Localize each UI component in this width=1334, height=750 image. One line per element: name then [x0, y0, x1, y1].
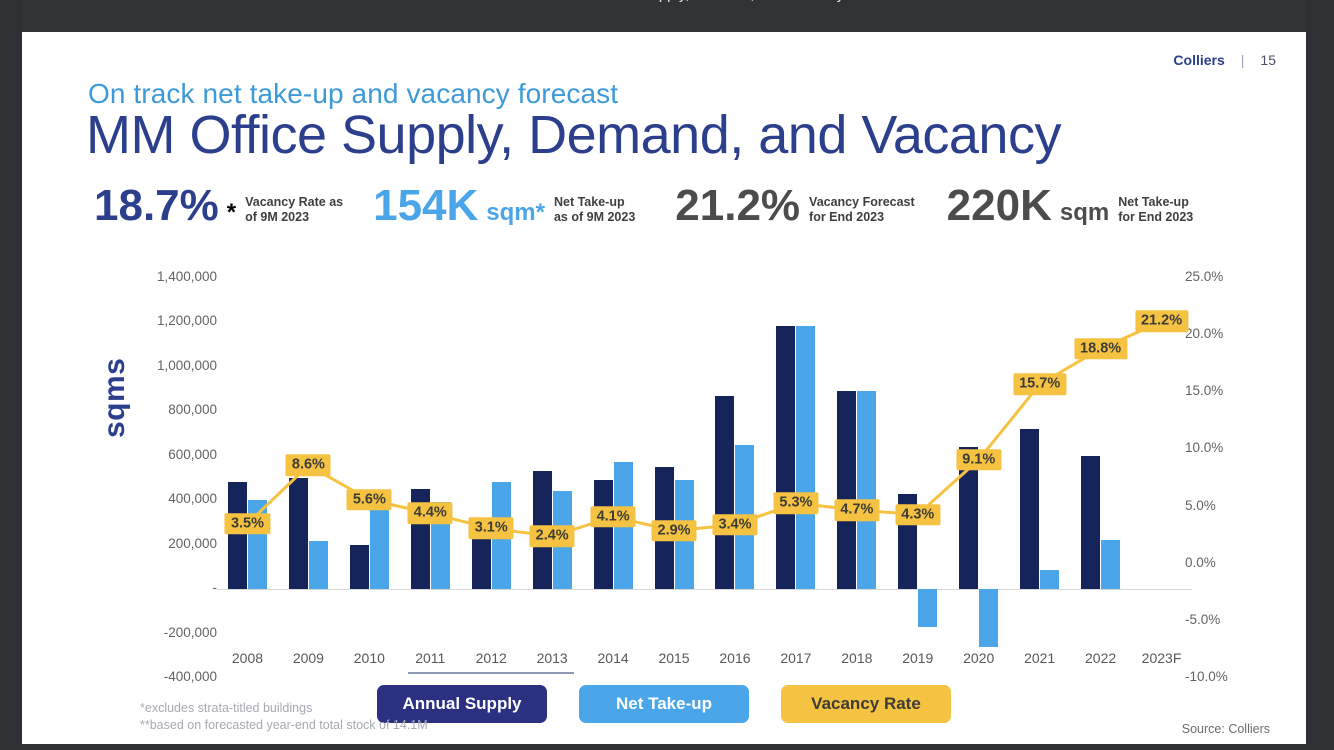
bottom-gutter	[0, 744, 1334, 750]
screen: MM Office Supply, Demand, and Vacancy — …	[0, 0, 1334, 750]
kpi-value: 220K	[947, 184, 1052, 228]
kpi-caption: Net Take-up as of 9M 2023	[554, 195, 635, 226]
vacancy-rate-data-label: 4.7%	[834, 499, 879, 521]
window-controls-icon[interactable]: ▭ ▭	[1215, 0, 1314, 2]
x-axis-tick-label: 2015	[658, 650, 689, 666]
kpi-strip: 18.7% * Vacancy Rate as of 9M 2023 154K …	[90, 184, 1250, 244]
source-label: Source: Colliers	[1182, 722, 1270, 736]
y-axis-tick-label: 1,000,000	[157, 358, 217, 373]
x-axis-tick-label: 2010	[354, 650, 385, 666]
left-gutter	[0, 0, 22, 750]
x-axis-tick-label: 2023F	[1142, 650, 1182, 666]
right-gutter	[1306, 0, 1334, 750]
vacancy-rate-data-label: 2.4%	[530, 526, 575, 548]
kpi-nettakeup-forecast: 220K sqm Net Take-up for End 2023	[947, 184, 1194, 240]
brand-label: Colliers	[1173, 52, 1224, 68]
slide-header: Colliers | 15	[1173, 52, 1276, 68]
vacancy-rate-data-label: 4.4%	[408, 503, 453, 525]
vacancy-rate-data-label: 5.3%	[773, 492, 818, 514]
vacancy-rate-data-label: 3.4%	[712, 514, 757, 536]
kpi-nettakeup-9m: 154K sqm* Net Take-up as of 9M 2023	[373, 184, 635, 240]
legend-item-net-takeup[interactable]: Net Take-up	[579, 685, 749, 723]
vacancy-rate-data-label: 4.1%	[591, 506, 636, 528]
y-axis-tick-label: -400,000	[164, 669, 217, 684]
chart: sqms 1,400,0001,200,0001,000,000800,0006…	[22, 260, 1306, 680]
x-axis-tick-label: 2019	[902, 650, 933, 666]
kpi-unit: sqm	[1060, 199, 1109, 227]
y-axis-title: sqms	[98, 358, 132, 438]
x-axis-tick-label: 2014	[598, 650, 629, 666]
vacancy-rate-data-label: 5.6%	[347, 489, 392, 511]
vacancy-rate-data-label: 3.1%	[469, 518, 514, 540]
vacancy-rate-data-label: 15.7%	[1013, 374, 1066, 396]
vacancy-rate-data-label: 4.3%	[895, 504, 940, 526]
kpi-caption: Net Take-up for End 2023	[1118, 195, 1193, 226]
x-axis-tick-label: 2009	[293, 650, 324, 666]
y-axis-tick-label: -200,000	[164, 625, 217, 640]
y-axis-tick-label: 1,200,000	[157, 313, 217, 328]
x-axis-tick-label: 2018	[841, 650, 872, 666]
kpi-vacancy-9m: 18.7% * Vacancy Rate as of 9M 2023	[94, 184, 343, 240]
kpi-value: 18.7%	[94, 184, 219, 228]
y-axis-tick-label: 600,000	[168, 447, 217, 462]
x-axis-tick-label: 2008	[232, 650, 263, 666]
vacancy-rate-data-label: 9.1%	[956, 449, 1001, 471]
kpi-caption: Vacancy Forecast for End 2023	[809, 195, 915, 226]
y-axis-tick-label: 400,000	[168, 491, 217, 506]
x-axis-tick-label: 2021	[1024, 650, 1055, 666]
kpi-value: 21.2%	[675, 184, 800, 228]
x-axis-tick-label: 2016	[719, 650, 750, 666]
vacancy-rate-data-label: 3.5%	[225, 513, 270, 535]
vacancy-rate-data-label: 21.2%	[1135, 311, 1188, 333]
y-axis-tick-label: 800,000	[168, 402, 217, 417]
kpi-unit: sqm*	[486, 199, 545, 227]
x-axis-tick-label: 2012	[476, 650, 507, 666]
plot-area: 3.5%8.6%5.6%4.4%3.1%2.4%4.1%2.9%3.4%5.3%…	[217, 278, 1192, 678]
x-axis-tick-label: 2022	[1085, 650, 1116, 666]
page-number: 15	[1260, 52, 1276, 68]
x-axis-tick-label: 2017	[780, 650, 811, 666]
page-title: MM Office Supply, Demand, and Vacancy	[86, 104, 1061, 166]
vacancy-rate-data-label: 18.8%	[1074, 338, 1127, 360]
legend-item-vacancy-rate[interactable]: Vacancy Rate	[781, 685, 951, 723]
y-axis-tick-label: 1,400,000	[157, 269, 217, 284]
kpi-value: 154K	[373, 184, 478, 228]
x-axis-tick-label: 2020	[963, 650, 994, 666]
vacancy-rate-data-label: 8.6%	[286, 455, 331, 477]
vacancy-rate-line	[217, 278, 1192, 678]
kpi-vacancy-forecast: 21.2% Vacancy Forecast for End 2023	[675, 184, 914, 240]
footnotes: *excludes strata-titled buildings **base…	[140, 700, 428, 734]
vacancy-rate-data-label: 2.9%	[652, 520, 697, 542]
kpi-caption: Vacancy Rate as of 9M 2023	[245, 195, 343, 226]
y-axis-tick-label: 200,000	[168, 536, 217, 551]
x-axis-selection-underline	[408, 672, 574, 674]
x-axis-tick-label: 2011	[415, 650, 445, 666]
header-separator: |	[1241, 52, 1245, 68]
x-axis-tick-label: 2013	[537, 650, 568, 666]
window-title: MM Office Supply, Demand, and Vacancy — …	[330, 0, 1190, 3]
slide: Colliers | 15 On track net take-up and v…	[22, 32, 1306, 744]
kpi-sup: *	[227, 199, 236, 227]
